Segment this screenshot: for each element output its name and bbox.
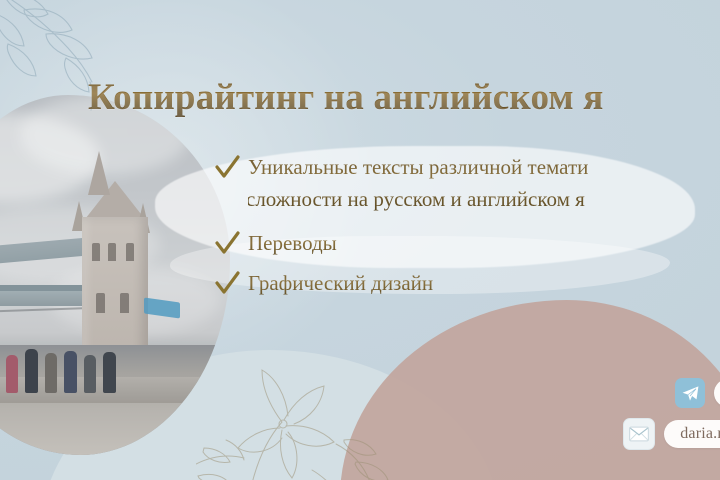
list-item-line1: Графический дизайн	[248, 271, 433, 295]
list-item-text: Графический дизайн	[248, 268, 433, 300]
check-icon	[214, 231, 240, 257]
telegram-handle[interactable]: daria_r	[714, 379, 720, 407]
tower-window	[120, 293, 129, 313]
tower-window	[126, 243, 134, 261]
contact-telegram[interactable]: daria_r	[675, 378, 720, 408]
person	[25, 349, 38, 393]
list-item-text: Переводы	[248, 228, 337, 260]
services-list: Уникальные тексты различной темати сложн…	[214, 152, 720, 306]
promo-banner: Копирайтинг на английском я Уникальные т…	[0, 0, 720, 480]
email-handle[interactable]: daria.romanova.ar	[664, 420, 720, 448]
check-icon	[214, 155, 240, 181]
person	[84, 355, 96, 393]
person	[103, 352, 116, 393]
tower-window	[96, 293, 105, 313]
list-item: Переводы	[214, 228, 720, 260]
tower-window	[92, 243, 100, 261]
contact-list: daria_r daria.romanova.ar	[623, 378, 720, 450]
tower-window	[108, 243, 116, 261]
telegram-icon[interactable]	[675, 378, 705, 408]
list-item-line1: Переводы	[248, 231, 337, 255]
list-item-text: Уникальные тексты различной темати сложн…	[248, 152, 588, 216]
bridge-deck	[0, 291, 95, 306]
envelope-icon[interactable]	[623, 418, 655, 450]
person	[64, 351, 77, 393]
person	[6, 355, 18, 393]
person	[45, 353, 57, 393]
check-icon	[214, 271, 240, 297]
list-item: Уникальные тексты различной темати сложн…	[214, 152, 720, 216]
list-item: Графический дизайн	[214, 268, 720, 300]
tower-spire	[88, 151, 110, 195]
contact-email[interactable]: daria.romanova.ar	[623, 418, 720, 450]
list-item-line2: сложности на русском и английском я	[246, 184, 588, 216]
page-title: Копирайтинг на английском я	[88, 77, 604, 118]
list-item-line1: Уникальные тексты различной темати	[248, 155, 588, 179]
